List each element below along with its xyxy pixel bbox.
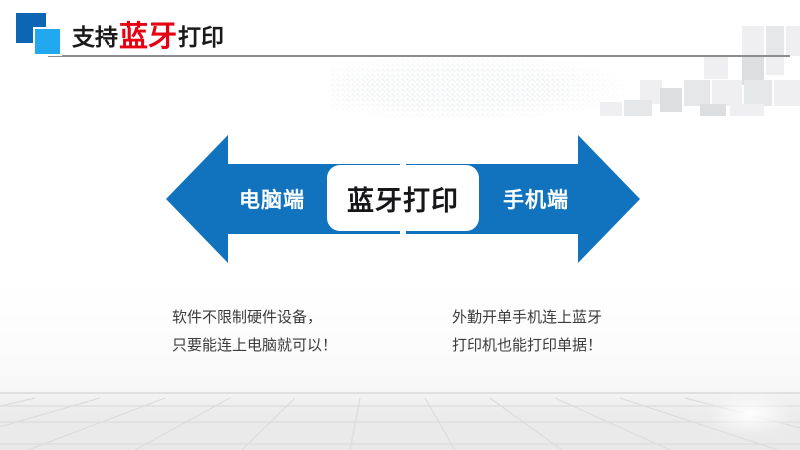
- page-title: 支持 蓝牙 打印: [72, 16, 224, 54]
- arrow-label-left-text: 电脑端: [239, 184, 305, 214]
- mosaic-tile: [660, 88, 682, 112]
- mosaic-tile: [766, 57, 784, 75]
- mosaic-tile: [704, 57, 728, 79]
- mosaic-tile: [730, 104, 764, 116]
- arrow-label-left: 电脑端: [222, 134, 322, 264]
- mosaic-tile: [774, 80, 800, 106]
- bluetooth-printing-arrow-diagram: 电脑端 手机端 蓝牙打印: [166, 134, 640, 264]
- title-prefix: 支持: [72, 18, 118, 52]
- mosaic-tile: [684, 80, 710, 106]
- header-divider: [48, 55, 790, 57]
- mosaic-tile: [600, 102, 622, 116]
- brand-logo: [16, 13, 62, 55]
- caption-right-line1: 外勤开单手机连上蓝牙: [452, 303, 602, 331]
- caption-right-line2: 打印机也能打印单据！: [452, 331, 602, 359]
- arrow-label-right-text: 手机端: [503, 184, 569, 214]
- caption-left-line1: 软件不限制硬件设备，: [172, 303, 337, 331]
- center-badge-text: 蓝牙打印: [347, 179, 459, 218]
- mosaic-tile: [624, 100, 652, 116]
- logo-square-light-icon: [33, 27, 62, 56]
- caption-left: 软件不限制硬件设备， 只要能连上电脑就可以！: [172, 303, 337, 359]
- title-suffix: 打印: [178, 18, 224, 52]
- mosaic-tile: [742, 26, 764, 56]
- tiled-floor-background: [0, 392, 800, 450]
- center-badge: 蓝牙打印: [327, 165, 479, 231]
- title-highlight: 蓝牙: [119, 13, 177, 55]
- caption-left-line2: 只要能连上电脑就可以！: [172, 331, 337, 359]
- mosaic-tile: [712, 80, 742, 106]
- presentation-slide: 支持 蓝牙 打印 电脑端 手机端 蓝牙打印 软件不限制硬件设备， 只要能连上电脑…: [0, 0, 800, 450]
- mosaic-tile: [766, 26, 784, 56]
- mosaic-tile: [700, 104, 726, 116]
- mosaic-tile: [744, 80, 772, 106]
- floor-highlight: [680, 392, 800, 450]
- arrow-label-right: 手机端: [486, 134, 586, 264]
- mosaic-tile: [786, 26, 800, 56]
- caption-right: 外勤开单手机连上蓝牙 打印机也能打印单据！: [452, 303, 602, 359]
